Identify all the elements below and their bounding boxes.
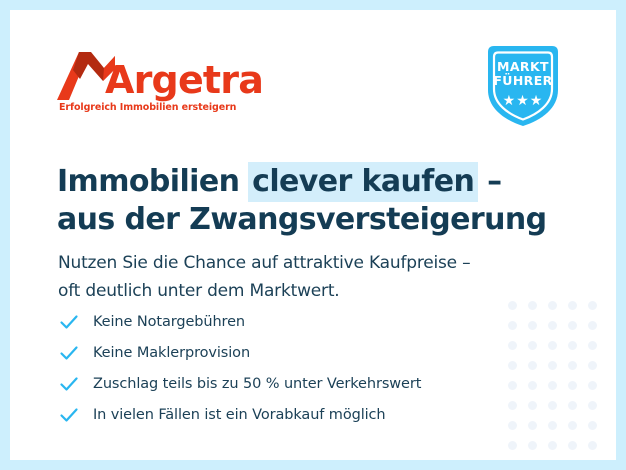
- shield-icon: [482, 40, 564, 130]
- decorative-dot-grid: [502, 295, 602, 455]
- check-icon: [59, 405, 79, 425]
- logo-tagline: Erfolgreich Immobilien ersteigern: [59, 102, 263, 113]
- decorative-dot: [548, 301, 557, 310]
- ad-canvas: Argetra Erfolgreich Immobilien ersteiger…: [10, 10, 616, 460]
- decorative-dot: [568, 421, 577, 430]
- page-title: Immobilien clever kaufen – aus der Zwang…: [57, 163, 547, 239]
- list-item: Zuschlag teils bis zu 50 % unter Verkehr…: [59, 368, 421, 399]
- decorative-dot: [588, 341, 597, 350]
- decorative-dot: [528, 321, 537, 330]
- decorative-dot: [528, 341, 537, 350]
- list-item-label: Keine Maklerprovision: [93, 345, 250, 361]
- headline-line-2: aus der Zwangsversteigerung: [57, 201, 547, 239]
- decorative-dot: [528, 301, 537, 310]
- list-item-label: Keine Notargebühren: [93, 314, 245, 330]
- list-item: In vielen Fällen ist ein Vorabkauf mögli…: [59, 399, 421, 430]
- ad-banner: Argetra Erfolgreich Immobilien ersteiger…: [0, 0, 626, 470]
- headline-line-1: Immobilien clever kaufen –: [57, 163, 547, 201]
- decorative-dot: [548, 381, 557, 390]
- decorative-dot: [568, 301, 577, 310]
- decorative-dot: [528, 401, 537, 410]
- decorative-dot: [568, 401, 577, 410]
- list-item: Keine Notargebühren: [59, 306, 421, 337]
- decorative-dot: [548, 341, 557, 350]
- decorative-dot: [588, 441, 597, 450]
- decorative-dot: [548, 361, 557, 370]
- check-icon: [59, 312, 79, 332]
- decorative-dot: [568, 361, 577, 370]
- subheadline-line-1: Nutzen Sie die Chance auf attraktive Kau…: [58, 249, 470, 277]
- decorative-dot: [548, 421, 557, 430]
- decorative-dot: [508, 421, 517, 430]
- decorative-dot: [568, 441, 577, 450]
- market-leader-badge: MARKT FÜHRER ★★★: [482, 40, 564, 130]
- subheadline-line-2: oft deutlich unter dem Marktwert.: [58, 277, 470, 305]
- decorative-dot: [508, 401, 517, 410]
- decorative-dot: [508, 361, 517, 370]
- list-item: Keine Maklerprovision: [59, 337, 421, 368]
- decorative-dot: [588, 301, 597, 310]
- headline-highlight: clever kaufen: [248, 162, 478, 202]
- decorative-dot: [508, 341, 517, 350]
- check-icon: [59, 343, 79, 363]
- decorative-dot: [528, 441, 537, 450]
- decorative-dot: [588, 401, 597, 410]
- decorative-dot: [548, 401, 557, 410]
- headline-text-before: Immobilien: [57, 164, 249, 199]
- decorative-dot: [568, 321, 577, 330]
- logo-row: Argetra: [57, 48, 263, 100]
- decorative-dot: [528, 421, 537, 430]
- decorative-dot: [588, 381, 597, 390]
- decorative-dot: [508, 381, 517, 390]
- decorative-dot: [588, 421, 597, 430]
- check-icon: [59, 374, 79, 394]
- headline-text-after: –: [477, 164, 501, 199]
- benefits-list: Keine NotargebührenKeine Maklerprovision…: [59, 306, 421, 430]
- decorative-dot: [508, 441, 517, 450]
- subheadline: Nutzen Sie die Chance auf attraktive Kau…: [58, 249, 470, 305]
- decorative-dot: [568, 381, 577, 390]
- decorative-dot: [508, 301, 517, 310]
- decorative-dot: [568, 341, 577, 350]
- decorative-dot: [548, 441, 557, 450]
- decorative-dot: [528, 381, 537, 390]
- decorative-dot: [548, 321, 557, 330]
- logo-wordmark: Argetra: [105, 61, 263, 99]
- decorative-dot: [508, 321, 517, 330]
- decorative-dot: [588, 321, 597, 330]
- brand-logo[interactable]: Argetra Erfolgreich Immobilien ersteiger…: [57, 48, 263, 113]
- decorative-dot: [528, 361, 537, 370]
- decorative-dot: [588, 361, 597, 370]
- list-item-label: Zuschlag teils bis zu 50 % unter Verkehr…: [93, 376, 421, 392]
- list-item-label: In vielen Fällen ist ein Vorabkauf mögli…: [93, 407, 386, 423]
